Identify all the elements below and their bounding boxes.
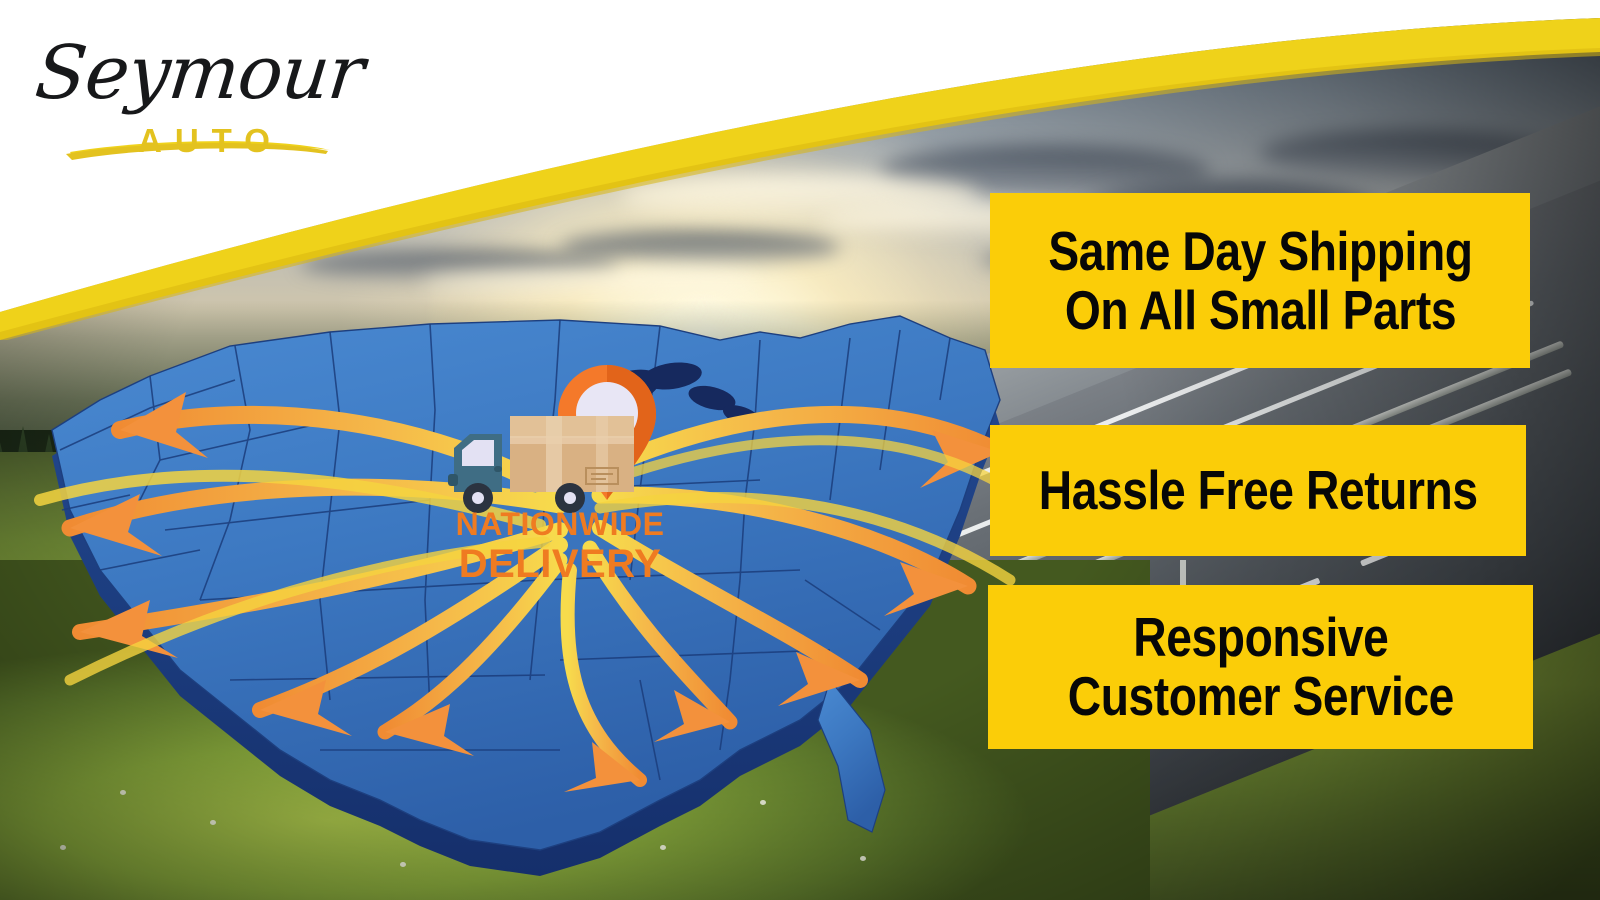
delivery-label: NATIONWIDE DELIVERY [430,508,690,584]
brand-logo[interactable]: Seymour AUTO [30,24,340,174]
callout-1-text: Same Day Shipping On All Small Parts [1048,222,1472,340]
logo-sub-text: AUTO [138,122,283,160]
callout-hassle-free-returns[interactable]: Hassle Free Returns [990,425,1526,556]
logo-script-text: Seymour [31,30,367,116]
callout-2-text: Hassle Free Returns [1039,461,1478,520]
callout-3-line1: Responsive [1133,606,1388,668]
callout-1-line2: On All Small Parts [1064,279,1455,341]
callout-3-line2: Customer Service [1067,665,1453,727]
callout-1-line1: Same Day Shipping [1048,220,1472,282]
nationwide-delivery-graphic: NATIONWIDE DELIVERY [430,360,690,590]
delivery-truck-icon [448,408,638,518]
callout-same-day-shipping[interactable]: Same Day Shipping On All Small Parts [990,193,1530,368]
callout-3-text: Responsive Customer Service [1067,608,1453,726]
promo-banner: Seymour AUTO [0,0,1600,900]
callout-2-line1: Hassle Free Returns [1039,459,1478,521]
callout-responsive-customer-service[interactable]: Responsive Customer Service [988,585,1533,749]
delivery-label-line1: NATIONWIDE [430,508,690,540]
delivery-label-line2: DELIVERY [430,544,690,584]
